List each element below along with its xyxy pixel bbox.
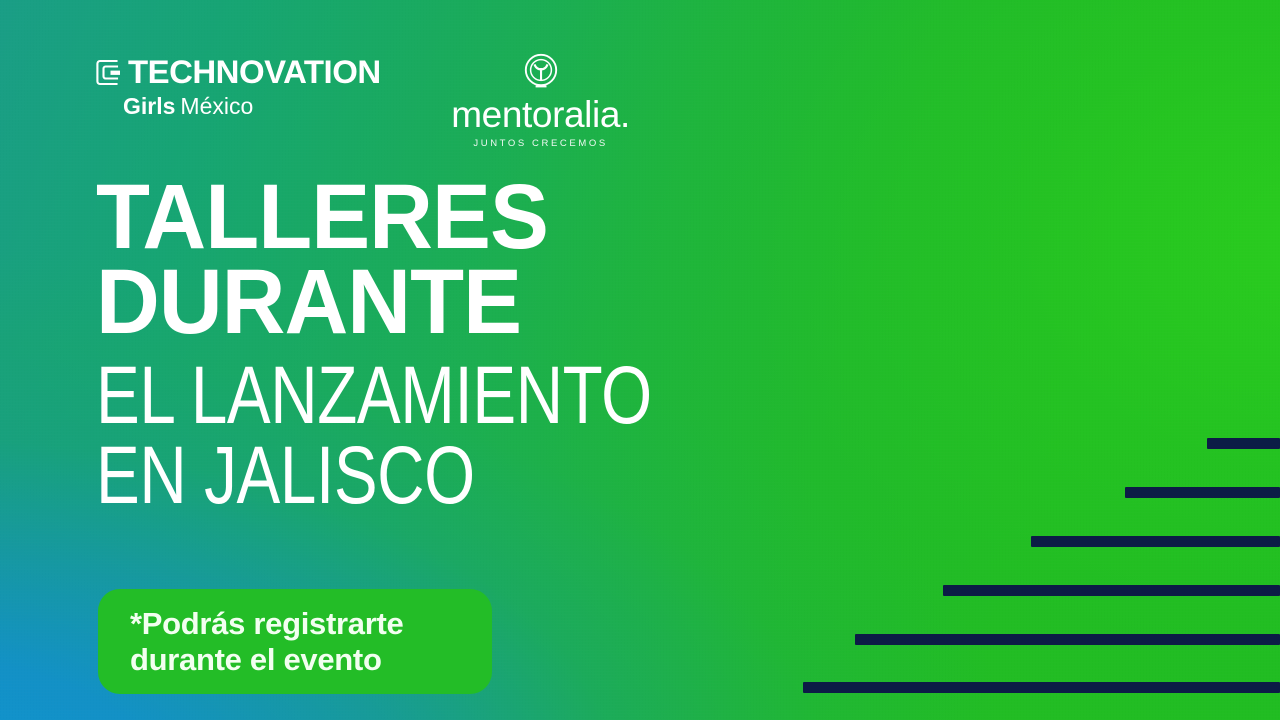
poster-content: TECHNOVATION GirlsMéxico mentoralia. xyxy=(0,0,1280,720)
headline-line-4: EN JALISCO xyxy=(96,436,652,516)
badge-line-2: durante el evento xyxy=(130,642,492,677)
technovation-subtitle-girls: Girls xyxy=(123,93,175,119)
headline-line-2: DURANTE xyxy=(96,261,763,344)
mentoralia-wordmark-dot: . xyxy=(620,94,630,135)
technovation-logo: TECHNOVATION GirlsMéxico xyxy=(96,52,373,118)
mentoralia-wordmark: mentoralia xyxy=(451,94,620,135)
mentoralia-circle-emblem-icon xyxy=(521,52,561,94)
poster-canvas: TECHNOVATION GirlsMéxico mentoralia. xyxy=(0,0,1280,720)
headline-line-3: EL LANZAMIENTO xyxy=(96,356,652,436)
mentoralia-tagline: JUNTOS CRECEMOS xyxy=(473,138,607,149)
registration-note-badge: *Podrás registrarte durante el evento xyxy=(98,589,492,694)
mentoralia-logo: mentoralia. JUNTOS CRECEMOS xyxy=(451,52,630,149)
technovation-subtitle: GirlsMéxico xyxy=(96,95,373,118)
technovation-top-row: TECHNOVATION xyxy=(96,56,373,88)
headline-line-1: TALLERES xyxy=(96,176,763,259)
logo-row: TECHNOVATION GirlsMéxico mentoralia. xyxy=(96,52,630,149)
technovation-wordmark: TECHNOVATION xyxy=(128,56,381,88)
technovation-bracket-g-icon xyxy=(96,59,121,86)
mentoralia-wordmark-row: mentoralia. xyxy=(451,96,630,133)
headline-block: TALLERES DURANTE EL LANZAMIENTO EN JALIS… xyxy=(96,176,791,516)
badge-line-1: *Podrás registrarte xyxy=(130,606,492,641)
technovation-subtitle-mexico: México xyxy=(180,93,253,119)
